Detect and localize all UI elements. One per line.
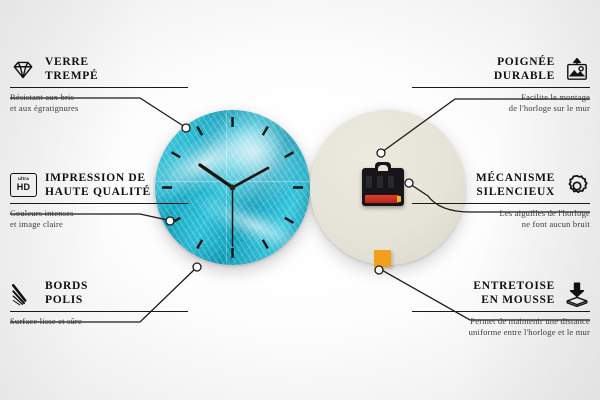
desc-line-2: uniforme entre l'horloge et le mur [469, 327, 590, 337]
feature-description: Résistant aux bris et aux égratignures [10, 92, 188, 114]
desc-line-1: Résistant aux bris [10, 92, 74, 102]
title-line-2: SILENCIEUX [476, 186, 555, 198]
title-line-1: IMPRESSION DE [45, 172, 146, 184]
title-line-2: DURABLE [494, 70, 555, 82]
feature-description: Couleurs intenses et image claire [10, 208, 188, 230]
feature-description: Permet de maintenir une distance uniform… [412, 316, 590, 338]
feature-entretoise-en-mousse: ENTRETOISE EN MOUSSE Permet de maintenir… [412, 280, 590, 338]
polished-edges-icon [10, 281, 36, 307]
divider-rule [412, 203, 590, 204]
desc-line-1: Couleurs intenses [10, 208, 74, 218]
feature-bords-polis: BORDS POLIS Surface lisse et sûre [10, 280, 188, 327]
divider-rule [10, 203, 188, 204]
foam-spacer [374, 250, 391, 267]
desc-line-1: Facilite le montage [521, 92, 590, 102]
desc-line-2: de l'horloge sur le mur [509, 103, 590, 113]
title-line-2: EN MOUSSE [481, 294, 555, 306]
desc-line-1: Les aiguilles de l'horloge [499, 208, 590, 218]
infographic-canvas: VERRE TREMPÉ Résistant aux bris et aux é… [0, 0, 600, 400]
feature-header: VERRE TREMPÉ [10, 56, 188, 83]
ultra-hd-icon: ultra HD [10, 173, 36, 199]
clock-mechanism [362, 168, 404, 206]
title-line-2: POLIS [45, 294, 83, 306]
divider-rule [10, 311, 188, 312]
feature-title: POIGNÉE DURABLE [494, 56, 555, 83]
desc-line-2: et aux égratignures [10, 103, 78, 113]
feature-header: MÉCANISME SILENCIEUX [412, 172, 590, 199]
feature-header: ultra HD IMPRESSION DE HAUTE QUALITÉ [10, 172, 188, 199]
feature-impression-haute-qualite: ultra HD IMPRESSION DE HAUTE QUALITÉ Cou… [10, 172, 188, 230]
divider-rule [412, 87, 590, 88]
feature-poignee-durable: POIGNÉE DURABLE Facilite le montage de l… [412, 56, 590, 114]
feature-description: Surface lisse et sûre [10, 316, 188, 327]
battery [365, 195, 399, 203]
battery-terminal [397, 196, 401, 202]
desc-line-1: Surface lisse et sûre [10, 316, 82, 326]
feature-header: POIGNÉE DURABLE [412, 56, 590, 83]
diamond-icon [10, 57, 36, 83]
title-line-1: POIGNÉE [497, 56, 555, 68]
picture-hanger-icon [564, 57, 590, 83]
feature-title: ENTRETOISE EN MOUSSE [473, 280, 555, 307]
ultra-hd-large-text: HD [17, 183, 30, 192]
feature-header: ENTRETOISE EN MOUSSE [412, 280, 590, 307]
desc-line-2: et image claire [10, 219, 63, 229]
feature-title: VERRE TREMPÉ [45, 56, 98, 83]
desc-line-2: ne font aucun bruit [522, 219, 590, 229]
feature-description: Facilite le montage de l'horloge sur le … [412, 92, 590, 114]
divider-rule [412, 311, 590, 312]
divider-rule [10, 87, 188, 88]
title-line-2: HAUTE QUALITÉ [45, 186, 151, 198]
feature-header: BORDS POLIS [10, 280, 188, 307]
feature-verre-trempe: VERRE TREMPÉ Résistant aux bris et aux é… [10, 56, 188, 114]
title-line-1: BORDS [45, 280, 88, 292]
hanger-notch [378, 165, 388, 171]
endpoint-entretoise [375, 266, 383, 274]
feature-title: MÉCANISME SILENCIEUX [476, 172, 555, 199]
title-line-1: VERRE [45, 56, 89, 68]
feature-title: IMPRESSION DE HAUTE QUALITÉ [45, 172, 151, 199]
mechanism-detail [366, 176, 396, 188]
feature-mecanisme-silencieux: MÉCANISME SILENCIEUX Les aiguilles de l'… [412, 172, 590, 230]
gear-icon [564, 173, 590, 199]
title-line-1: MÉCANISME [476, 172, 555, 184]
title-line-1: ENTRETOISE [473, 280, 555, 292]
feature-description: Les aiguilles de l'horloge ne font aucun… [412, 208, 590, 230]
title-line-2: TREMPÉ [45, 70, 98, 82]
feature-title: BORDS POLIS [45, 280, 88, 307]
desc-line-1: Permet de maintenir une distance [470, 316, 590, 326]
foam-spacer-icon [564, 281, 590, 307]
